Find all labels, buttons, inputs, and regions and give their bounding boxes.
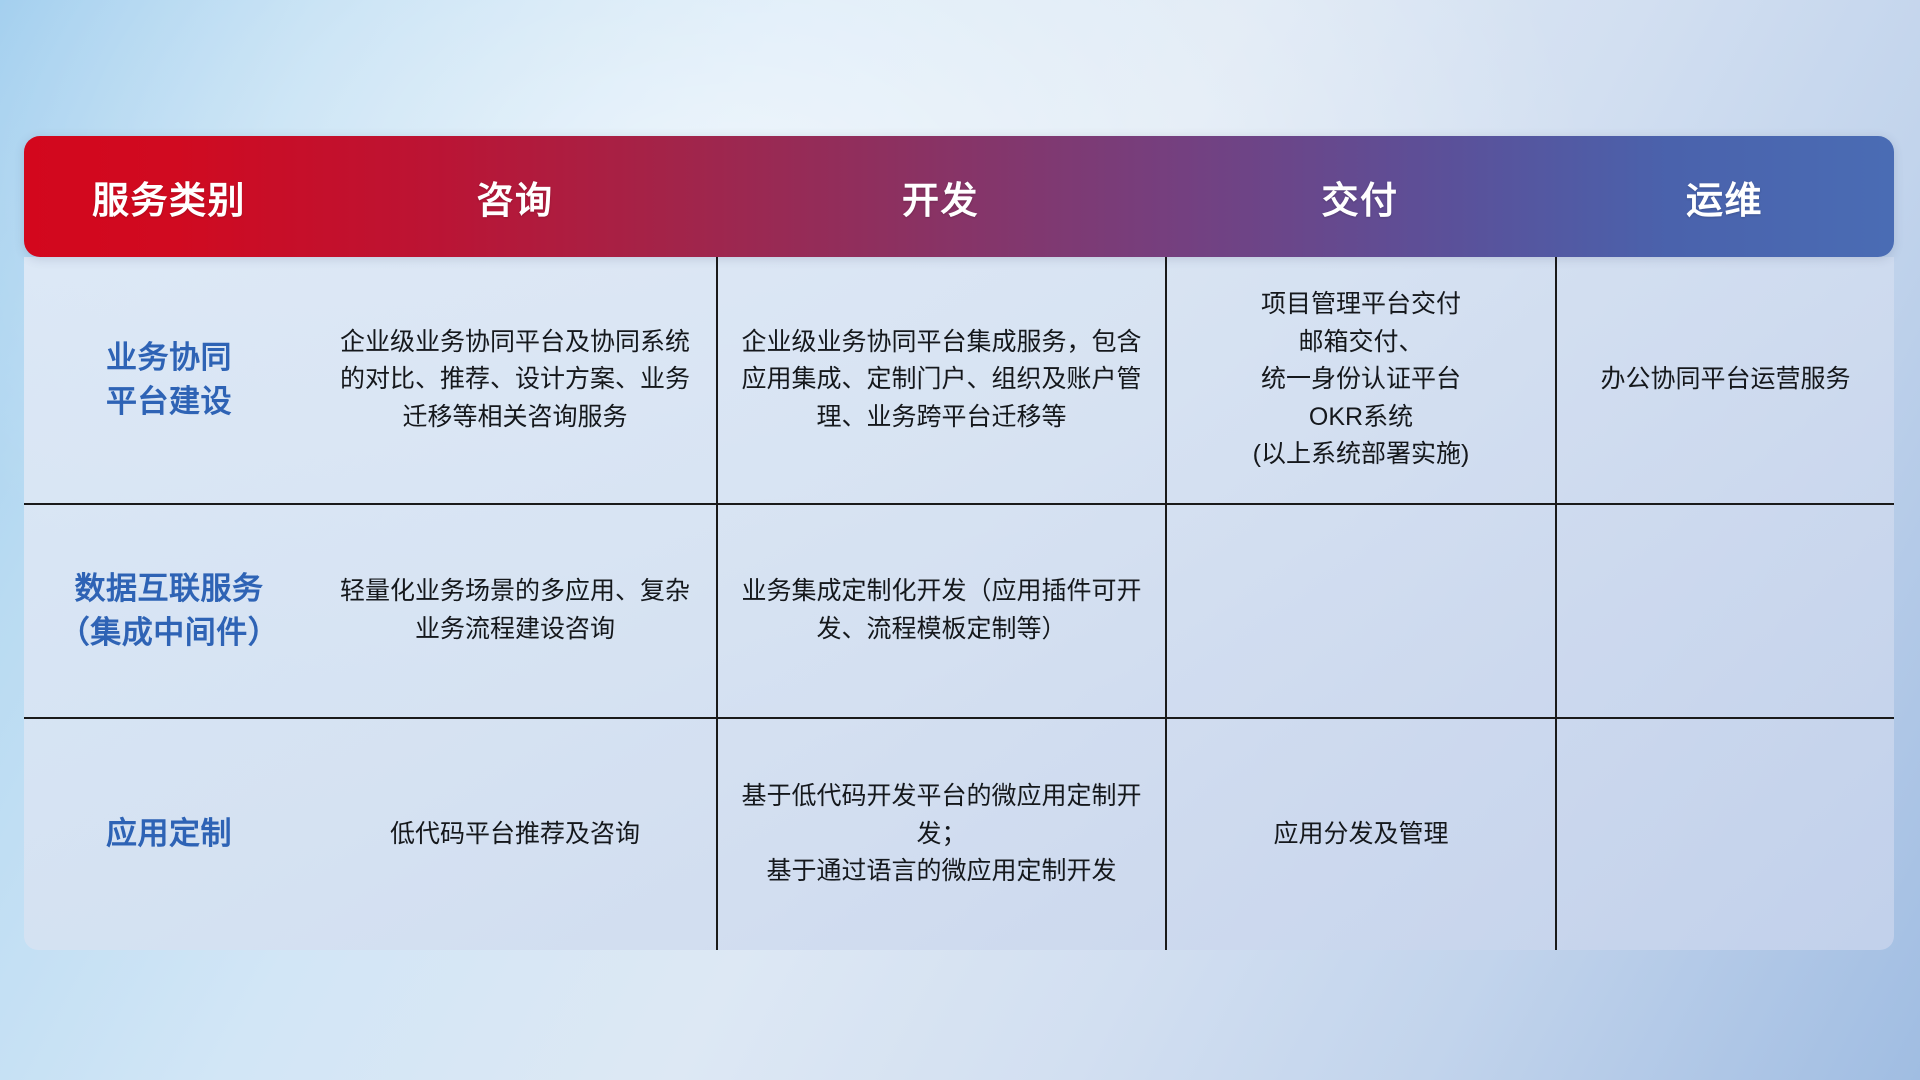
cell-text: 业务集成定制化开发（应用插件可开发、流程模板定制等） [734, 573, 1149, 648]
cell-consulting: 低代码平台推荐及咨询 [314, 719, 716, 950]
column-header-delivery: 交付 [1165, 170, 1555, 224]
cell-delivery [1165, 505, 1555, 717]
column-header-category: 服务类别 [24, 170, 314, 224]
cell-text: 企业级业务协同平台及协同系统的对比、推荐、设计方案、业务迁移等相关咨询服务 [330, 324, 700, 437]
cell-operations: 办公协同平台运营服务 [1555, 257, 1894, 503]
cell-text: 低代码平台推荐及咨询 [390, 816, 640, 854]
cell-text: 办公协同平台运营服务 [1600, 361, 1850, 399]
cell-development: 业务集成定制化开发（应用插件可开发、流程模板定制等） [716, 505, 1165, 717]
table-row: 数据互联服务 （集成中间件） 轻量化业务场景的多应用、复杂业务流程建设咨询 业务… [24, 505, 1894, 719]
cell-text: 企业级业务协同平台集成服务，包含应用集成、定制门户、组织及账户管理、业务跨平台迁… [734, 324, 1149, 437]
cell-consulting: 企业级业务协同平台及协同系统的对比、推荐、设计方案、业务迁移等相关咨询服务 [314, 257, 716, 503]
slide-canvas: 服务类别 咨询 开发 交付 运维 业务协同 平台建设 企业级业务协同平台及协同系… [0, 0, 1920, 1080]
column-header-operations: 运维 [1555, 170, 1894, 224]
cell-delivery: 项目管理平台交付 邮箱交付、 统一身份认证平台 OKR系统 (以上系统部署实施) [1165, 257, 1555, 503]
row-label-text: 业务协同 平台建设 [106, 336, 232, 424]
cell-delivery: 应用分发及管理 [1165, 719, 1555, 950]
row-label-cell: 应用定制 [24, 719, 314, 950]
cell-text: 应用分发及管理 [1273, 816, 1448, 854]
table-row: 应用定制 低代码平台推荐及咨询 基于低代码开发平台的微应用定制开发； 基于通过语… [24, 719, 1894, 950]
cell-development: 企业级业务协同平台集成服务，包含应用集成、定制门户、组织及账户管理、业务跨平台迁… [716, 257, 1165, 503]
row-label-cell: 数据互联服务 （集成中间件） [24, 505, 314, 717]
cell-development: 基于低代码开发平台的微应用定制开发； 基于通过语言的微应用定制开发 [716, 719, 1165, 950]
column-header-consulting: 咨询 [314, 170, 716, 224]
table-body: 业务协同 平台建设 企业级业务协同平台及协同系统的对比、推荐、设计方案、业务迁移… [24, 257, 1894, 950]
table-row: 业务协同 平台建设 企业级业务协同平台及协同系统的对比、推荐、设计方案、业务迁移… [24, 257, 1894, 505]
table-header-row: 服务类别 咨询 开发 交付 运维 [24, 136, 1894, 257]
cell-operations [1555, 505, 1894, 717]
cell-text: 轻量化业务场景的多应用、复杂业务流程建设咨询 [330, 573, 700, 648]
row-label-text: 数据互联服务 （集成中间件） [59, 567, 280, 655]
service-category-table: 服务类别 咨询 开发 交付 运维 业务协同 平台建设 企业级业务协同平台及协同系… [24, 136, 1894, 950]
row-label-text: 应用定制 [106, 812, 232, 856]
column-header-development: 开发 [716, 170, 1165, 224]
row-label-cell: 业务协同 平台建设 [24, 257, 314, 503]
cell-text: 项目管理平台交付 邮箱交付、 统一身份认证平台 OKR系统 (以上系统部署实施) [1253, 286, 1470, 474]
cell-operations [1555, 719, 1894, 950]
cell-consulting: 轻量化业务场景的多应用、复杂业务流程建设咨询 [314, 505, 716, 717]
cell-text: 基于低代码开发平台的微应用定制开发； 基于通过语言的微应用定制开发 [734, 778, 1149, 891]
